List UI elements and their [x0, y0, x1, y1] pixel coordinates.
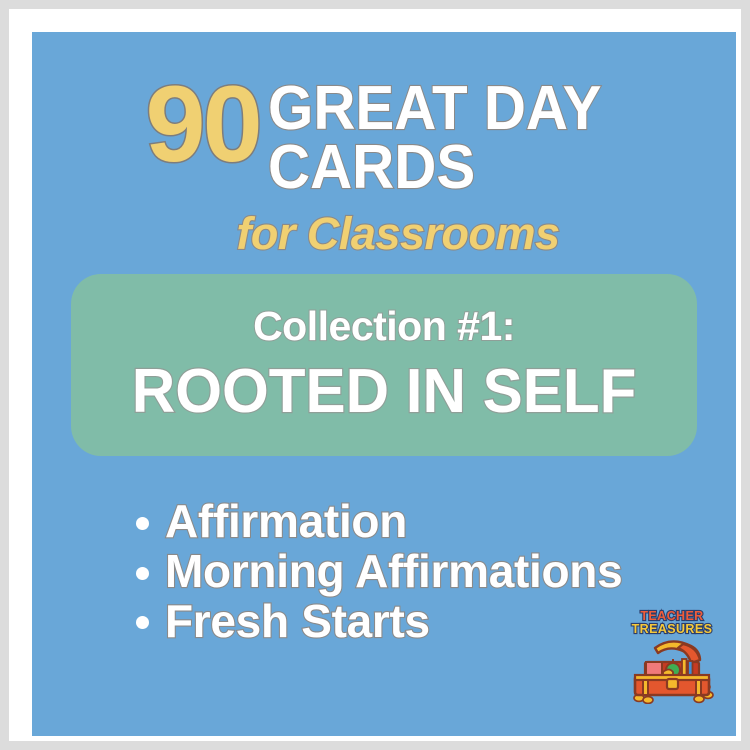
headline-subtitle-row: for Classrooms [32, 208, 736, 260]
brand-wordmark: TEACHER TREASURES [620, 610, 724, 635]
feature-list: Affirmation Morning Affirmations Fresh S… [136, 497, 696, 646]
card-count-number: 90 [146, 74, 260, 173]
headline-subtitle: for Classrooms [236, 208, 559, 259]
poster-outer-frame: 90 GREAT DAY CARDS for Classrooms Collec… [0, 0, 750, 750]
brand-word-treasures: TREASURES [620, 623, 724, 636]
collection-title: ROOTED IN SELF [132, 356, 637, 427]
headline-line-1: GREAT DAY [268, 80, 602, 139]
brand-word-teacher: TEACHER [620, 610, 724, 623]
feature-label: Morning Affirmations [165, 547, 622, 596]
collection-panel: Collection #1: ROOTED IN SELF [71, 274, 697, 456]
feature-label: Fresh Starts [165, 597, 430, 646]
list-item: Affirmation [136, 497, 696, 546]
list-item: Morning Affirmations [136, 547, 696, 596]
poster-canvas: 90 GREAT DAY CARDS for Classrooms Collec… [32, 32, 736, 736]
list-item: Fresh Starts [136, 597, 696, 646]
headline-main-row: 90 GREAT DAY CARDS [32, 74, 736, 198]
bullet-dot-icon [136, 517, 149, 530]
brand-logo: TEACHER TREASURES [620, 610, 724, 710]
bullet-dot-icon [136, 616, 149, 629]
poster-white-mat: 90 GREAT DAY CARDS for Classrooms Collec… [9, 9, 741, 741]
headline-block: 90 GREAT DAY CARDS for Classrooms [32, 74, 736, 260]
headline-lines: GREAT DAY CARDS [268, 74, 623, 198]
feature-label: Affirmation [165, 497, 407, 546]
headline-line-2: CARDS [268, 139, 602, 198]
bullet-dot-icon [136, 567, 149, 580]
treasure-chest-icon [625, 636, 719, 704]
collection-label: Collection #1: [253, 303, 515, 350]
